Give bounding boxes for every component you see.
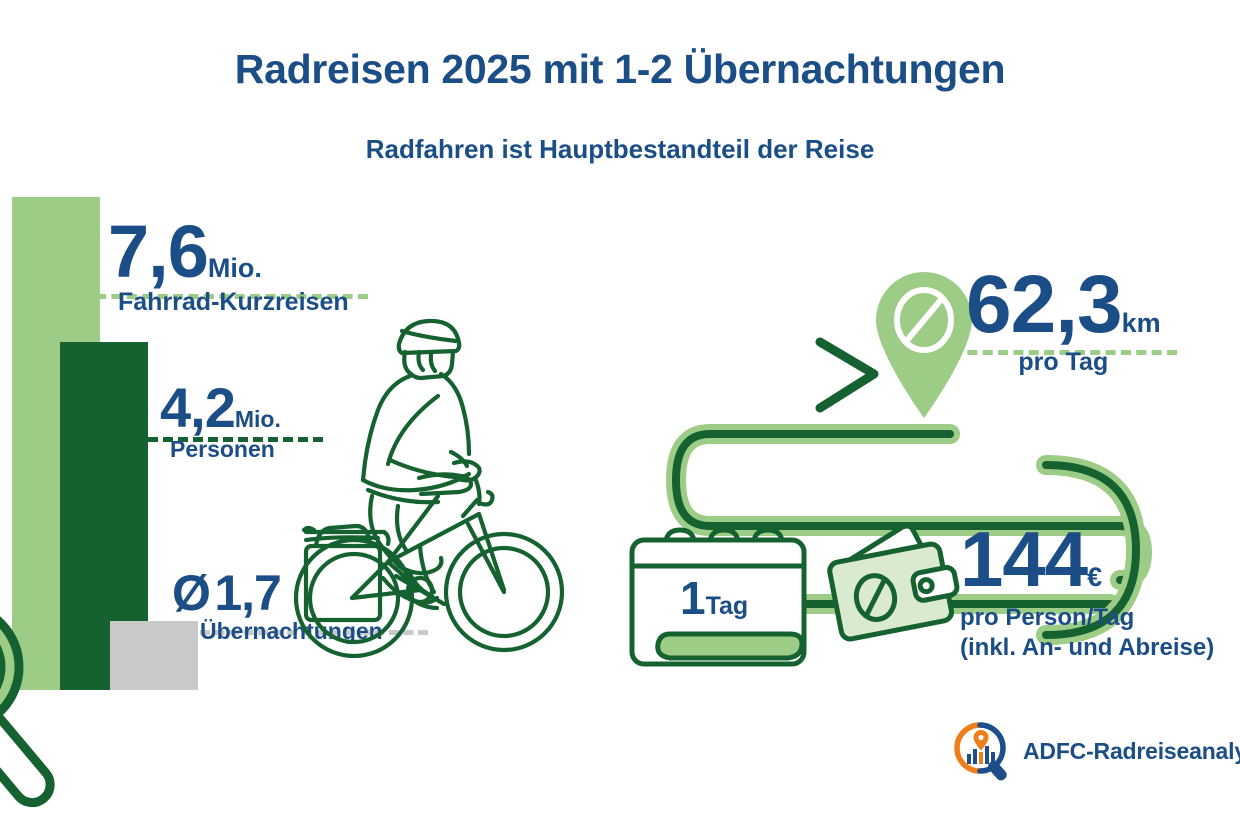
infographic-canvas: Radreisen 2025 mit 1-2 Übernachtungen Ra… [0,0,1240,827]
stat-distance: 62,3km pro Tag [966,268,1161,377]
stat-personen: 4,2Mio. Personen [160,382,281,463]
stat-distance-unit: km [1122,308,1161,338]
stat-duration: 1Tag [680,575,748,621]
stat-spending: 144€ pro Person/Tag (inkl. An- und Abrei… [960,524,1214,662]
stat-spending-caption2: (inkl. An- und Abreise) [960,634,1214,662]
cyclist-illustration-icon [268,300,568,660]
logo-text: ADFC-Radreiseanalyse [1023,738,1240,765]
stat-trips-unit: Mio. [208,253,262,283]
wallet-icon [818,522,968,654]
logo[interactable]: ADFC-Radreiseanalyse [952,722,1240,780]
stat-duration-unit: Tag [706,592,749,620]
adfc-magnifier-logo-icon [952,722,1014,780]
page-title: Radreisen 2025 mit 1-2 Übernachtungen [0,46,1240,93]
stat-trips-value: 7,6 [108,210,208,293]
magnifier-decoration-icon [0,585,125,815]
stat-duration-value: 1 [680,572,706,624]
page-subtitle: Radfahren ist Hauptbestandteil der Reise [0,134,1240,165]
stat-spending-value: 144 [960,515,1087,603]
map-pin-icon [868,268,980,420]
stat-nights-avg-symbol: Ø [172,565,210,621]
stat-distance-caption: pro Tag [966,348,1161,377]
stat-persons-value: 4,2 [160,376,235,439]
stat-spending-unit: € [1087,562,1102,592]
stat-spending-caption: pro Person/Tag [960,604,1214,632]
stat-distance-value: 62,3 [966,259,1122,350]
stat-persons-caption: Personen [170,436,281,463]
